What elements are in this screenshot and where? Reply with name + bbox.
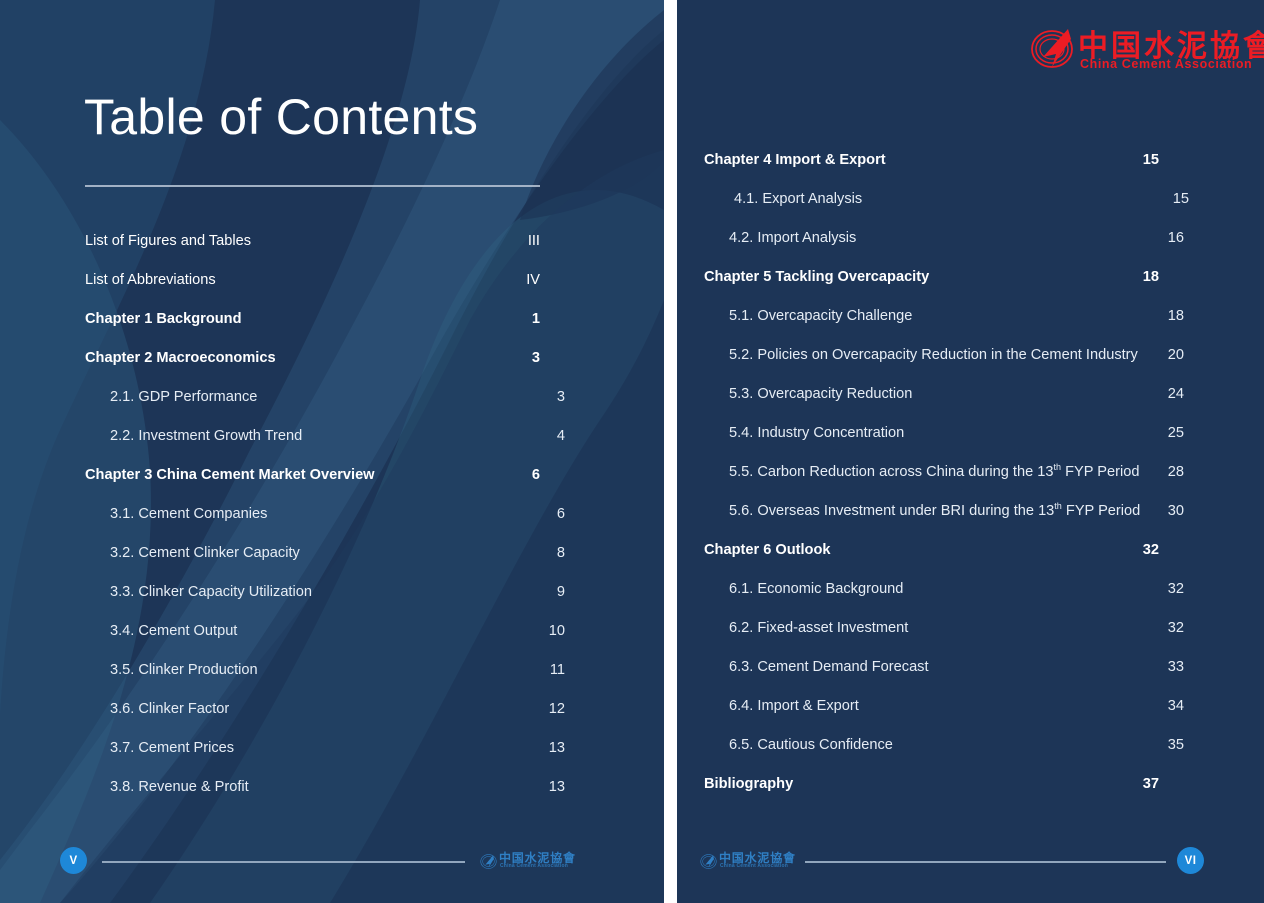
toc-entry-label: 6.5. Cautious Confidence — [729, 726, 893, 765]
toc-dot-leader — [912, 305, 1166, 320]
toc-dot-leader — [903, 578, 1166, 593]
toc-entry-label: 3.5. Clinker Production — [110, 651, 258, 690]
toc-entry-label: 3.6. Clinker Factor — [110, 690, 241, 729]
toc-entry-label: Chapter 4 Import & Export — [704, 141, 886, 180]
toc-entry-page-number: 16 — [1167, 219, 1184, 258]
toc-entry-page-number: 34 — [1167, 687, 1184, 726]
toc-entry[interactable]: 6.5. Cautious Confidence35 — [704, 726, 1184, 765]
toc-entry-page-number: 13 — [548, 729, 565, 768]
toc-dot-leader — [237, 620, 547, 635]
footer-right: 中国水泥協會 China Cement Association VI — [677, 823, 1264, 903]
toc-entry[interactable]: 6.2. Fixed-asset Investment32 — [704, 609, 1184, 648]
footer-left: V 中国水泥協會 China Cement Association — [0, 823, 664, 903]
toc-entry-page-number: 32 — [1167, 609, 1184, 648]
toc-entry-page-number: 28 — [1167, 453, 1184, 492]
toc-dot-leader — [904, 422, 1167, 437]
toc-entry[interactable]: Chapter 1 Background1 — [85, 300, 540, 339]
toc-dot-leader — [886, 149, 1142, 164]
toc-entry-label: 4.1. Export Analysis — [734, 180, 862, 219]
toc-dot-leader — [859, 695, 1167, 710]
toc-entry-label: 3.4. Cement Output — [110, 612, 237, 651]
toc-entry-label: Chapter 2 Macroeconomics — [85, 339, 276, 378]
toc-entry[interactable]: 4.1. Export Analysis15 — [704, 180, 1189, 219]
toc-entry-label: Chapter 1 Background — [85, 300, 242, 339]
toc-entry-label: 6.3. Cement Demand Forecast — [729, 648, 929, 687]
swoosh-icon — [1030, 26, 1074, 70]
toc-entry[interactable]: 5.3. Overcapacity Reduction24 — [704, 375, 1184, 414]
footer-logo: 中国水泥協會 China Cement Association — [700, 851, 788, 873]
toc-entry[interactable]: 3.8. Revenue & Profit13 — [85, 768, 565, 807]
toc-entry-page-number: 3 — [556, 378, 565, 417]
toc-entry-page-number: IV — [525, 261, 540, 300]
toc-entry-label: 6.2. Fixed-asset Investment — [729, 609, 908, 648]
toc-entry-label: 5.6. Overseas Investment under BRI durin… — [729, 492, 1140, 531]
toc-dot-leader — [312, 581, 556, 596]
toc-entry-label: 6.1. Economic Background — [729, 570, 903, 609]
toc-entry-label: 5.2. Policies on Overcapacity Reduction … — [729, 336, 1138, 375]
toc-entry[interactable]: List of AbbreviationsIV — [85, 261, 540, 300]
toc-entry-label: 5.4. Industry Concentration — [729, 414, 904, 453]
footer-logo-en: China Cement Association — [500, 863, 568, 869]
toc-dot-leader — [257, 386, 556, 401]
toc-entry-label: 2.2. Investment Growth Trend — [110, 417, 302, 456]
toc-dot-leader — [831, 539, 1142, 554]
toc-dot-leader — [1139, 461, 1166, 476]
toc-entry-label: 3.7. Cement Prices — [110, 729, 234, 768]
footer-logo-en: China Cement Association — [720, 863, 788, 869]
toc-entry[interactable]: 3.6. Clinker Factor12 — [85, 690, 565, 729]
toc-dot-leader — [912, 383, 1166, 398]
toc-entry[interactable]: List of Figures and TablesIII — [85, 222, 540, 261]
footer-divider — [102, 861, 465, 863]
toc-dot-leader — [216, 269, 526, 284]
toc-list-right: Chapter 4 Import & Export154.1. Export A… — [704, 141, 1159, 804]
toc-entry[interactable]: 4.2. Import Analysis16 — [704, 219, 1184, 258]
toc-entry[interactable]: Chapter 3 China Cement Market Overview6 — [85, 456, 540, 495]
toc-entry[interactable]: Bibliography37 — [704, 765, 1159, 804]
page-title: Table of Contents — [84, 92, 478, 142]
toc-entry-page-number: 8 — [556, 534, 565, 573]
toc-entry-label: Chapter 3 China Cement Market Overview — [85, 456, 375, 495]
toc-dot-leader — [1140, 500, 1167, 515]
toc-dot-leader — [276, 347, 531, 362]
toc-entry-label: Chapter 5 Tackling Overcapacity — [704, 258, 929, 297]
toc-list-left: List of Figures and TablesIIIList of Abb… — [85, 222, 540, 807]
toc-entry-page-number: 13 — [548, 768, 565, 807]
left-page: Table of Contents List of Figures and Ta… — [0, 0, 664, 903]
header-logo: 中国水泥協會 China Cement Association — [1030, 24, 1240, 76]
toc-entry-page-number: 3 — [531, 339, 540, 378]
toc-entry-label: 5.1. Overcapacity Challenge — [729, 297, 912, 336]
toc-entry[interactable]: 5.2. Policies on Overcapacity Reduction … — [704, 336, 1184, 375]
toc-entry-page-number: 12 — [548, 690, 565, 729]
header-logo-en: China Cement Association — [1080, 57, 1252, 71]
toc-entry-label: 3.1. Cement Companies — [110, 495, 271, 534]
toc-entry-ordinal: th — [1054, 501, 1062, 511]
toc-entry-label: 3.2. Cement Clinker Capacity — [110, 534, 304, 573]
toc-entry-label: Chapter 6 Outlook — [704, 531, 831, 570]
toc-entry[interactable]: 3.4. Cement Output10 — [85, 612, 565, 651]
toc-entry[interactable]: 3.7. Cement Prices13 — [85, 729, 565, 768]
footer-logo: 中国水泥協會 China Cement Association — [480, 851, 568, 873]
toc-entry[interactable]: 5.4. Industry Concentration25 — [704, 414, 1184, 453]
toc-dot-leader — [908, 617, 1167, 632]
toc-dot-leader — [856, 227, 1166, 242]
toc-entry[interactable]: Chapter 6 Outlook32 — [704, 531, 1159, 570]
toc-entry-page-number: 37 — [1142, 765, 1159, 804]
toc-entry-page-number: 20 — [1167, 336, 1184, 375]
toc-entry[interactable]: 6.4. Import & Export34 — [704, 687, 1184, 726]
toc-entry-label: 4.2. Import Analysis — [729, 219, 856, 258]
toc-dot-leader — [929, 656, 1167, 671]
toc-entry-page-number: 18 — [1142, 258, 1159, 297]
two-page-spread: Table of Contents List of Figures and Ta… — [0, 0, 1264, 903]
toc-dot-leader — [271, 503, 555, 518]
toc-dot-leader — [304, 542, 556, 557]
toc-dot-leader — [302, 425, 556, 440]
toc-entry-page-number: 11 — [549, 651, 565, 690]
toc-entry[interactable]: 3.3. Clinker Capacity Utilization9 — [85, 573, 565, 612]
right-page: 中国水泥協會 China Cement Association Chapter … — [677, 0, 1264, 903]
toc-entry[interactable]: 5.1. Overcapacity Challenge18 — [704, 297, 1184, 336]
toc-entry-label: 2.1. GDP Performance — [110, 378, 257, 417]
toc-entry-page-number: 15 — [1172, 180, 1189, 219]
toc-entry[interactable]: 5.5. Carbon Reduction across China durin… — [704, 453, 1184, 492]
toc-entry-page-number: 32 — [1142, 531, 1159, 570]
toc-entry[interactable]: 5.6. Overseas Investment under BRI durin… — [704, 492, 1184, 531]
toc-entry-page-number: III — [527, 222, 540, 261]
toc-entry-page-number: 24 — [1167, 375, 1184, 414]
toc-entry-label: Bibliography — [704, 765, 793, 804]
toc-dot-leader — [234, 737, 548, 752]
page-number-badge: VI — [1177, 847, 1204, 874]
title-divider — [85, 185, 540, 187]
swoosh-icon — [480, 853, 497, 870]
toc-entry-page-number: 35 — [1167, 726, 1184, 765]
toc-entry-label: 6.4. Import & Export — [729, 687, 859, 726]
toc-entry-label: 3.8. Revenue & Profit — [110, 768, 249, 807]
toc-entry-page-number: 9 — [556, 573, 565, 612]
toc-entry-page-number: 1 — [531, 300, 540, 339]
toc-entry-page-number: 18 — [1167, 297, 1184, 336]
toc-entry[interactable]: 3.5. Clinker Production11 — [85, 651, 565, 690]
toc-dot-leader — [251, 230, 527, 245]
toc-dot-leader — [249, 776, 548, 791]
toc-dot-leader — [862, 188, 1172, 203]
swoosh-icon — [700, 853, 717, 870]
toc-entry[interactable]: 2.2. Investment Growth Trend4 — [85, 417, 565, 456]
toc-dot-leader — [241, 698, 547, 713]
toc-entry[interactable]: 3.1. Cement Companies6 — [85, 495, 565, 534]
toc-entry-page-number: 10 — [548, 612, 565, 651]
toc-dot-leader — [893, 734, 1167, 749]
toc-entry-page-number: 32 — [1167, 570, 1184, 609]
toc-entry-page-number: 4 — [556, 417, 565, 456]
toc-entry-ordinal: th — [1054, 462, 1062, 472]
toc-entry-label: 5.5. Carbon Reduction across China durin… — [729, 453, 1139, 492]
page-gutter — [664, 0, 677, 903]
footer-divider — [805, 861, 1166, 863]
toc-entry-page-number: 25 — [1167, 414, 1184, 453]
toc-entry[interactable]: Chapter 5 Tackling Overcapacity18 — [704, 258, 1159, 297]
toc-entry-label: 3.3. Clinker Capacity Utilization — [110, 573, 312, 612]
toc-dot-leader — [375, 464, 531, 479]
toc-entry-label: 5.3. Overcapacity Reduction — [729, 375, 912, 414]
toc-entry[interactable]: 2.1. GDP Performance3 — [85, 378, 565, 417]
toc-entry-page-number: 33 — [1167, 648, 1184, 687]
toc-dot-leader — [1138, 344, 1167, 359]
toc-dot-leader — [793, 773, 1142, 788]
toc-entry-page-number: 6 — [531, 456, 540, 495]
toc-entry[interactable]: 3.2. Cement Clinker Capacity8 — [85, 534, 565, 573]
toc-entry-page-number: 15 — [1142, 141, 1159, 180]
toc-entry-page-number: 6 — [556, 495, 565, 534]
toc-entry[interactable]: 6.3. Cement Demand Forecast33 — [704, 648, 1184, 687]
toc-entry-page-number: 30 — [1167, 492, 1184, 531]
toc-dot-leader — [242, 308, 531, 323]
toc-entry[interactable]: Chapter 4 Import & Export15 — [704, 141, 1159, 180]
toc-dot-leader — [929, 266, 1142, 281]
toc-entry[interactable]: 6.1. Economic Background32 — [704, 570, 1184, 609]
page-number-badge: V — [60, 847, 87, 874]
toc-entry-label: List of Figures and Tables — [85, 222, 251, 261]
toc-entry-label: List of Abbreviations — [85, 261, 216, 300]
toc-dot-leader — [258, 659, 549, 674]
toc-entry[interactable]: Chapter 2 Macroeconomics3 — [85, 339, 540, 378]
